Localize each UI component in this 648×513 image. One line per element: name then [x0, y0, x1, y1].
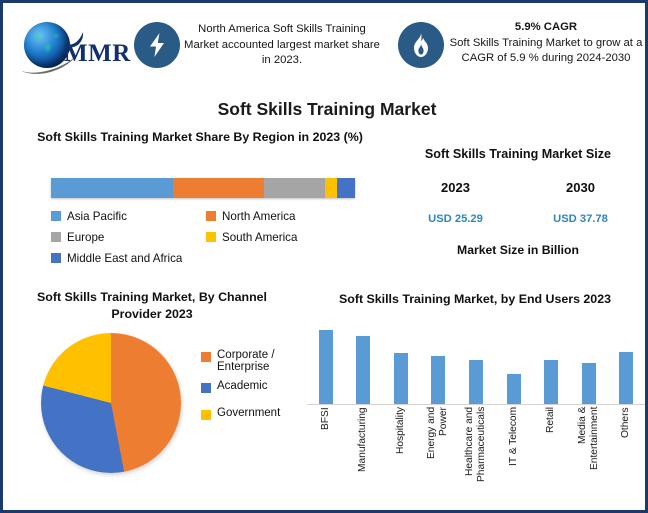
stacked-segment-europe — [264, 178, 325, 198]
legend-label: North America — [222, 210, 295, 223]
market-size-value-base: USD 25.29 — [393, 213, 518, 225]
legend-item-corporate: Corporate / Enterprise — [201, 349, 305, 373]
axis-label: Manufacturing — [356, 407, 370, 505]
brand-name: MMR — [64, 40, 131, 68]
column-bar — [619, 352, 633, 404]
legend-swatch-icon — [201, 352, 211, 362]
column-chart-title: Soft Skills Training Market, by End User… — [303, 291, 647, 308]
market-size-year-forecast: 2030 — [518, 180, 643, 195]
market-size-title: Soft Skills Training Market Size — [393, 147, 643, 161]
market-size-year-base: 2023 — [393, 180, 518, 195]
legend-label: South America — [222, 231, 297, 244]
header-stat-north-america: North America Soft Skills Training Marke… — [184, 22, 380, 69]
axis-label: Hospitality — [394, 407, 408, 505]
market-size-value-forecast: USD 37.78 — [518, 213, 643, 225]
column-bar — [507, 374, 521, 404]
column-bar — [469, 360, 483, 404]
legend-swatch-icon — [206, 211, 216, 221]
cagr-description: Soft Skills Training Market to grow at a… — [450, 37, 643, 65]
column-bar — [431, 356, 445, 404]
legend-swatch-icon — [201, 410, 211, 420]
legend-swatch-icon — [201, 383, 211, 393]
legend-item-asia-pacific: Asia Pacific — [51, 207, 206, 225]
infographic-canvas: MMR North America Soft Skills Training M… — [0, 0, 648, 513]
legend-item-north-america: North America — [206, 207, 361, 225]
stacked-bar — [51, 178, 355, 198]
legend-item-europe: Europe — [51, 228, 206, 246]
end-users-chart: Soft Skills Training Market, by End User… — [303, 291, 647, 511]
legend-item-middle-east-africa: Middle East and Africa — [51, 249, 206, 267]
legend-label: Corporate / Enterprise — [217, 349, 305, 373]
region-legend: Asia Pacific North America Europe South … — [51, 207, 361, 270]
axis-label: Retail — [544, 407, 558, 505]
axis-label: IT & Telecom — [507, 407, 521, 505]
channel-provider-chart: Soft Skills Training Market, By Channel … — [13, 289, 303, 504]
pie-chart-title: Soft Skills Training Market, By Channel … — [13, 289, 291, 323]
stacked-segment-north-america — [173, 178, 264, 198]
market-size-years: 2023 2030 — [393, 180, 643, 195]
legend-swatch-icon — [51, 211, 61, 221]
legend-swatch-icon — [51, 232, 61, 242]
axis-label: Media & Entertainment — [582, 407, 596, 505]
header-stat-cagr: 5.9% CAGR Soft Skills Training Market to… — [446, 20, 646, 67]
legend-swatch-icon — [51, 253, 61, 263]
column-plot-area — [307, 319, 645, 405]
legend-item-academic: Academic — [201, 380, 305, 393]
page-title: Soft Skills Training Market — [3, 99, 648, 120]
column-bar — [544, 360, 558, 404]
legend-label: Middle East and Africa — [67, 252, 182, 265]
column-axis-labels: BFSI Manufacturing Hospitality Energy an… — [307, 407, 645, 505]
brand-logo: MMR — [18, 18, 126, 76]
region-share-chart: Soft Skills Training Market Share By Reg… — [21, 129, 379, 274]
lightning-bolt-icon — [134, 22, 180, 68]
legend-label: Asia Pacific — [67, 210, 127, 223]
legend-label: Government — [217, 407, 280, 419]
axis-label: Healthcare and Pharmaceuticals — [469, 407, 483, 505]
header-bar: MMR North America Soft Skills Training M… — [6, 6, 648, 89]
axis-label: Energy and Power — [431, 407, 445, 505]
stacked-segment-middle-east-africa — [337, 178, 355, 198]
column-bar — [356, 336, 370, 404]
axis-label: Others — [619, 407, 633, 505]
pie-chart — [41, 333, 181, 473]
flame-icon — [398, 22, 444, 68]
pie-legend: Corporate / Enterprise Academic Governme… — [201, 349, 305, 427]
legend-label: Europe — [67, 231, 104, 244]
legend-label: Academic — [217, 380, 268, 392]
stacked-segment-asia-pacific — [51, 178, 173, 198]
column-bar — [394, 353, 408, 404]
axis-label: BFSI — [319, 407, 333, 505]
legend-item-south-america: South America — [206, 228, 361, 246]
column-bar — [582, 363, 596, 404]
market-size-footer: Market Size in Billion — [393, 243, 643, 257]
cagr-value: 5.9% CAGR — [446, 20, 646, 36]
market-size-panel: Soft Skills Training Market Size 2023 20… — [393, 147, 643, 272]
column-bar — [319, 330, 333, 404]
market-size-values: USD 25.29 USD 37.78 — [393, 213, 643, 225]
region-chart-title: Soft Skills Training Market Share By Reg… — [21, 129, 379, 146]
stacked-segment-south-america — [325, 178, 337, 198]
legend-item-government: Government — [201, 407, 305, 420]
legend-swatch-icon — [206, 232, 216, 242]
